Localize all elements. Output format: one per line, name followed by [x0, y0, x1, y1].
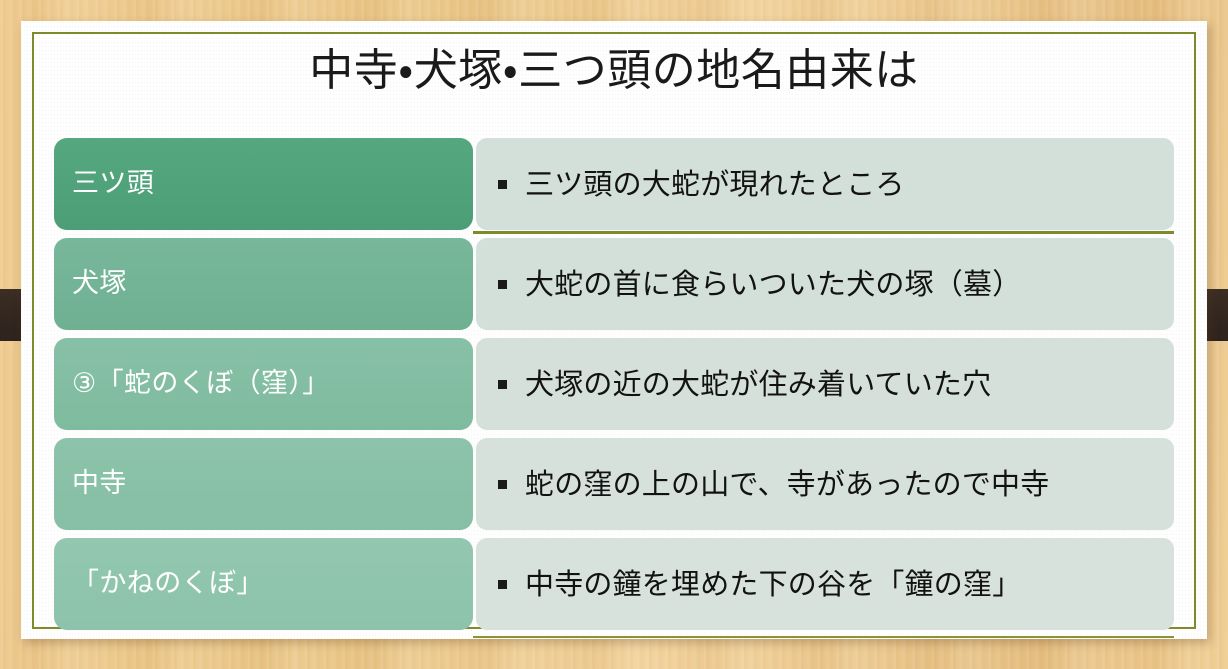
term-label: 「かねのくぼ」: [72, 568, 264, 600]
description-cell[interactable]: 大蛇の首に食らいついた犬の塚（墓）: [476, 238, 1174, 330]
description-text: 蛇の窪の上の山で、寺があったので中寺: [525, 467, 1049, 502]
table-row: ③「蛇のくぼ（窪）」 犬塚の近の大蛇が住み着いていた穴: [54, 334, 1174, 434]
bullet-square-icon: [498, 280, 507, 289]
table-row: 中寺 蛇の窪の上の山で、寺があったので中寺: [54, 434, 1174, 534]
table-row: 犬塚 大蛇の首に食らいついた犬の塚（墓）: [54, 234, 1174, 334]
description-text: 犬塚の近の大蛇が住み着いていた穴: [525, 367, 991, 402]
bullet-square-icon: [498, 480, 507, 489]
header-divider-rule: [473, 231, 1174, 234]
bullet-square-icon: [498, 380, 507, 389]
term-cell[interactable]: 中寺: [54, 438, 473, 530]
bullet-square-icon: [498, 180, 507, 189]
term-label: ③「蛇のくぼ（窪）」: [72, 368, 330, 400]
description-text: 三ツ頭の大蛇が現れたところ: [525, 167, 905, 202]
footer-divider-rule: [473, 636, 1174, 638]
page-title: 中寺・犬塚・三つ頭の地名由来は: [55, 45, 1173, 97]
term-cell[interactable]: 「かねのくぼ」: [54, 538, 473, 630]
slide-card: 中寺・犬塚・三つ頭の地名由来は 三ツ頭 三ツ頭の大蛇が現れたところ 犬塚 大蛇の…: [21, 21, 1207, 639]
term-cell[interactable]: ③「蛇のくぼ（窪）」: [54, 338, 473, 430]
definition-table: 三ツ頭 三ツ頭の大蛇が現れたところ 犬塚 大蛇の首に食らいついた犬の塚（墓） ③…: [54, 134, 1174, 634]
description-cell[interactable]: 蛇の窪の上の山で、寺があったので中寺: [476, 438, 1174, 530]
term-cell[interactable]: 三ツ頭: [54, 138, 473, 230]
table-row: 「かねのくぼ」 中寺の鐘を埋めた下の谷を「鐘の窪」: [54, 534, 1174, 634]
description-cell[interactable]: 三ツ頭の大蛇が現れたところ: [476, 138, 1174, 230]
description-text: 大蛇の首に食らいついた犬の塚（墓）: [525, 267, 1021, 302]
description-cell[interactable]: 中寺の鐘を埋めた下の谷を「鐘の窪」: [476, 538, 1174, 630]
term-cell[interactable]: 犬塚: [54, 238, 473, 330]
term-label: 犬塚: [72, 268, 127, 300]
description-cell[interactable]: 犬塚の近の大蛇が住み着いていた穴: [476, 338, 1174, 430]
table-row: 三ツ頭 三ツ頭の大蛇が現れたところ: [54, 134, 1174, 234]
bullet-square-icon: [498, 580, 507, 589]
term-label: 三ツ頭: [72, 168, 154, 200]
term-label: 中寺: [72, 468, 127, 500]
description-text: 中寺の鐘を埋めた下の谷を「鐘の窪」: [525, 567, 1021, 602]
